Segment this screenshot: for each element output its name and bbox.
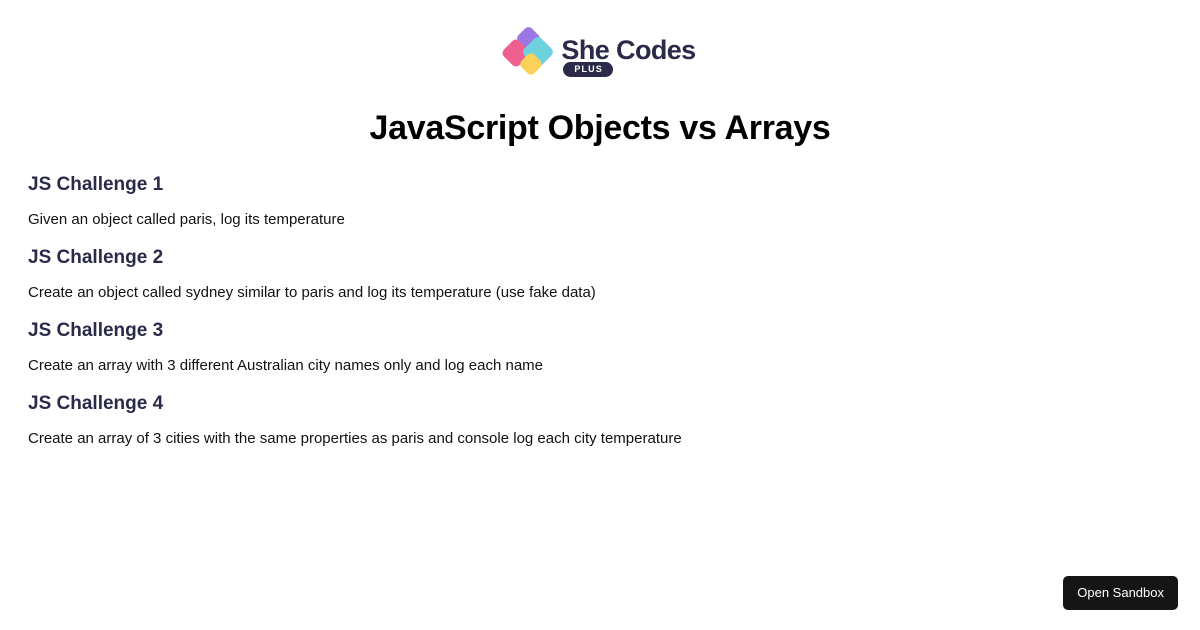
she-codes-diamond-logo-icon [504,28,552,74]
challenge-title: JS Challenge 1 [28,166,1172,203]
brand-text: She Codes PLUS [561,37,695,66]
page-title: JavaScript Objects vs Arrays [0,108,1200,149]
challenge-description: Given an object called paris, log its te… [28,203,1172,239]
challenge-item: JS Challenge 1 Given an object called pa… [28,166,1172,239]
brand-logo: She Codes PLUS [0,28,1200,74]
challenge-title: JS Challenge 4 [28,385,1172,422]
brand-wordmark: She Codes [561,37,695,64]
challenge-description: Create an object called sydney similar t… [28,276,1172,312]
brand-plus-badge: PLUS [563,62,612,77]
challenge-description: Create an array of 3 cities with the sam… [28,422,1172,458]
challenge-description: Create an array with 3 different Austral… [28,349,1172,385]
challenge-list: JS Challenge 1 Given an object called pa… [28,166,1172,458]
brand-logo-inner: She Codes PLUS [504,28,695,74]
challenge-title: JS Challenge 2 [28,239,1172,276]
challenge-item: JS Challenge 2 Create an object called s… [28,239,1172,312]
challenge-title: JS Challenge 3 [28,312,1172,349]
open-sandbox-button[interactable]: Open Sandbox [1063,576,1178,610]
challenge-item: JS Challenge 3 Create an array with 3 di… [28,312,1172,385]
challenge-item: JS Challenge 4 Create an array of 3 citi… [28,385,1172,458]
preview-page: She Codes PLUS JavaScript Objects vs Arr… [0,0,1200,630]
